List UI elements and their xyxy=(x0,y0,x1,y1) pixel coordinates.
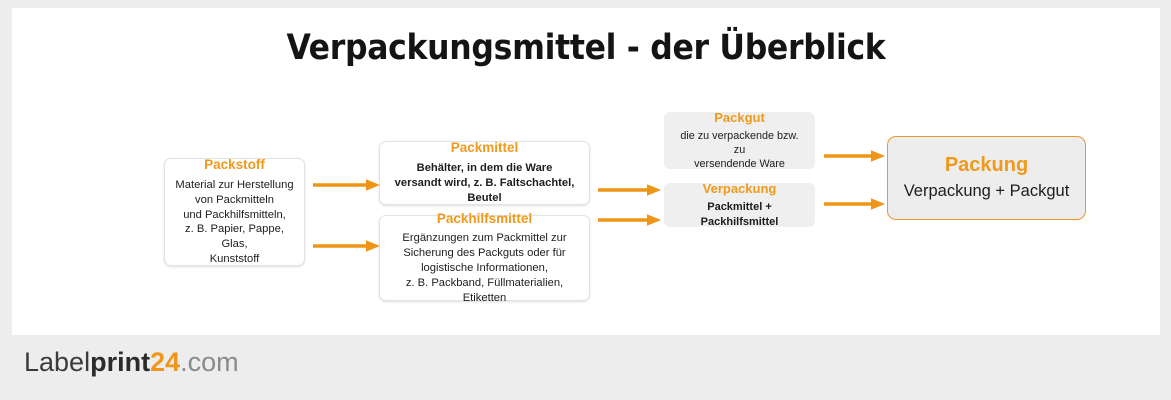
logo-part-label: Label xyxy=(24,347,90,377)
arrow-packgut-to-packung xyxy=(824,148,886,164)
page-title: Verpackungsmittel - der Überblick xyxy=(12,28,1160,68)
box-packung-heading: Packung xyxy=(945,153,1028,178)
box-packgut: Packgut die zu verpackende bzw. zuversen… xyxy=(664,112,815,169)
box-verpackung-body: Packmittel + Packhilfsmittel xyxy=(674,200,805,229)
box-packhilfsmittel-body: Ergänzungen zum Packmittel zurSicherung … xyxy=(389,231,580,305)
box-packgut-body: die zu verpackende bzw. zuversendende Wa… xyxy=(674,129,805,172)
footer-logo[interactable]: Labelprint24.com xyxy=(24,349,239,376)
content-panel: Verpackungsmittel - der Überblick Packst… xyxy=(12,8,1160,335)
box-packhilfsmittel: Packhilfsmittel Ergänzungen zum Packmitt… xyxy=(379,215,590,301)
box-packmittel: Packmittel Behälter, in dem die Warevers… xyxy=(379,141,590,205)
arrow-packstoff-to-packmittel xyxy=(313,177,381,193)
box-packgut-heading: Packgut xyxy=(714,110,765,126)
logo-part-24: 24 xyxy=(150,347,180,377)
box-packung-body: Verpackung + Packgut xyxy=(904,181,1070,203)
diagram-infographic: Verpackungsmittel - der Überblick Packst… xyxy=(0,0,1171,400)
box-packung: Packung Verpackung + Packgut xyxy=(887,136,1086,220)
box-packmittel-heading: Packmittel xyxy=(451,140,519,157)
box-verpackung-heading: Verpackung xyxy=(703,181,777,197)
arrow-packhilfsmittel-to-verpackung xyxy=(598,212,662,228)
logo-part-print: print xyxy=(90,347,150,377)
box-packstoff-heading: Packstoff xyxy=(204,157,265,174)
box-verpackung: Verpackung Packmittel + Packhilfsmittel xyxy=(664,183,815,227)
box-packstoff-body: Material zur Herstellungvon Packmittelnu… xyxy=(174,178,295,267)
arrow-packstoff-to-packhilfsmittel xyxy=(313,238,381,254)
arrow-packmittel-to-verpackung xyxy=(598,182,662,198)
arrow-verpackung-to-packung xyxy=(824,196,886,212)
box-packhilfsmittel-heading: Packhilfsmittel xyxy=(437,211,532,228)
logo-part-com: .com xyxy=(180,347,239,377)
box-packstoff: Packstoff Material zur Herstellungvon Pa… xyxy=(164,158,305,266)
box-packmittel-body: Behälter, in dem die Wareversandt wird, … xyxy=(389,161,580,205)
